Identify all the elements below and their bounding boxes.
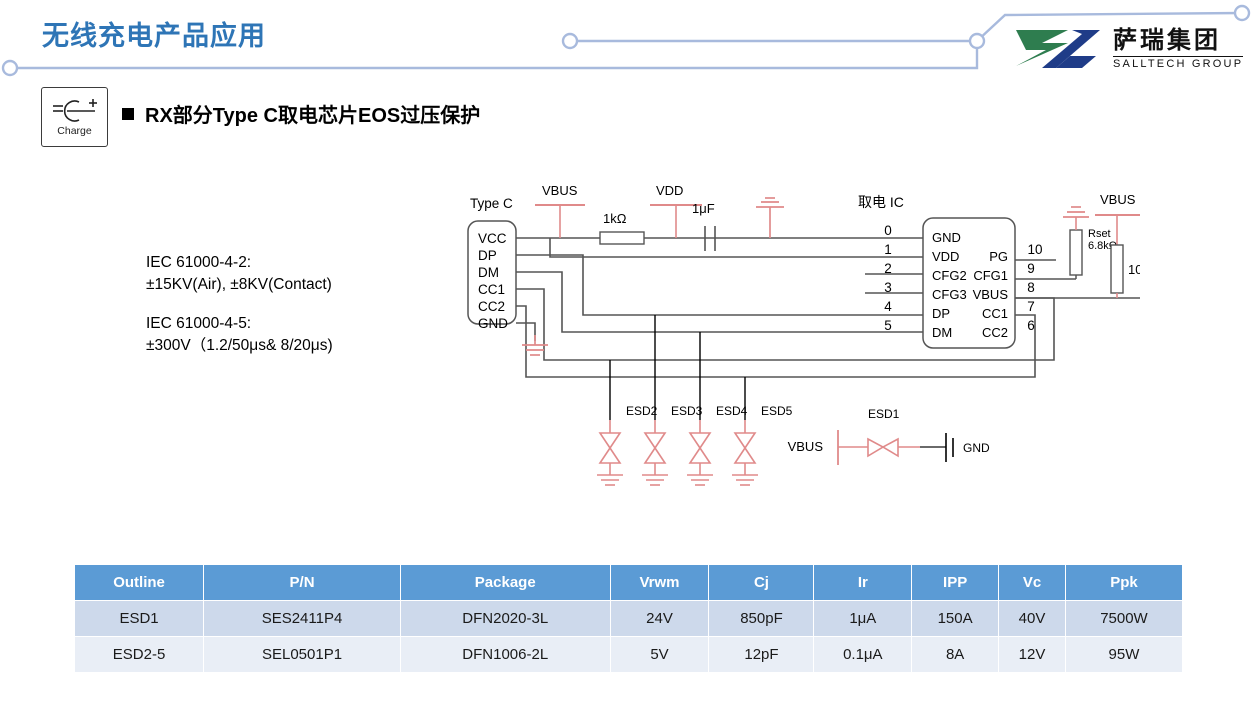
esd3-label: ESD3: [671, 404, 703, 418]
ic-pin-gnd: GND: [932, 230, 961, 245]
section-heading-label: RX部分Type C取电芯片EOS过压保护: [145, 99, 480, 128]
ic-num-10: 10: [1027, 242, 1042, 257]
section-heading: RX部分Type C取电芯片EOS过压保护: [122, 99, 480, 128]
charge-icon-box: Charge: [41, 87, 108, 147]
esd2-label: ESD2: [626, 404, 658, 418]
cell-vc: 12V: [999, 637, 1066, 673]
ic-pin-vbus: VBUS: [973, 287, 1009, 302]
table-header-row: Outline P/N Package Vrwm Cj Ir IPP Vc Pp…: [75, 565, 1183, 601]
cell-pn: SEL0501P1: [204, 637, 401, 673]
ic-pin-cc2: CC2: [982, 325, 1008, 340]
salltech-mark-icon: [1012, 26, 1104, 72]
typec-label-dm: DM: [478, 265, 499, 280]
esd1-label: ESD1: [868, 407, 900, 421]
deco-node-right: [970, 34, 984, 48]
iec-line-2: ±15KV(Air), ±8KV(Contact): [146, 274, 333, 296]
ic-num-8: 8: [1027, 280, 1035, 295]
resistor-1k-label: 1kΩ: [603, 211, 627, 226]
iec-line-3: IEC 61000-4-5:: [146, 313, 333, 335]
esd1-right-label: GND: [963, 441, 990, 455]
charge-icon-label: Charge: [57, 125, 91, 137]
th-package: Package: [400, 565, 610, 601]
page-title: 无线充电产品应用: [42, 14, 266, 53]
rail-vbus-left-label: VBUS: [542, 183, 578, 198]
capacitor-1uf-label: 1μF: [692, 201, 715, 216]
cell-ppk: 7500W: [1065, 601, 1182, 637]
typec-label-cc2: CC2: [478, 299, 505, 314]
cell-outline: ESD2-5: [75, 637, 204, 673]
spec-table: Outline P/N Package Vrwm Cj Ir IPP Vc Pp…: [74, 564, 1183, 673]
cell-ir: 1μA: [814, 601, 912, 637]
charge-icon: [49, 98, 101, 124]
ic-num-9: 9: [1027, 261, 1035, 276]
rset-name-label: Rset: [1088, 228, 1111, 240]
cell-vrwm: 24V: [610, 601, 709, 637]
resistor-10k-label: 10kΩ: [1128, 262, 1140, 277]
ic-num-5: 5: [884, 318, 892, 333]
rail-vbus-right-label: VBUS: [1100, 192, 1136, 207]
cell-vc: 40V: [999, 601, 1066, 637]
ic-num-0: 0: [884, 223, 892, 238]
cell-ipp: 8A: [912, 637, 999, 673]
deco-node-corner: [1235, 6, 1249, 20]
ic-num-4: 4: [884, 299, 892, 314]
th-pn: P/N: [204, 565, 401, 601]
rail-vdd-label: VDD: [656, 183, 683, 198]
logo-chinese-name: 萨瑞集团: [1113, 29, 1243, 53]
ic-pin-cfg1: CFG1: [973, 268, 1008, 283]
brand-logo: 萨瑞集团 SALLTECH GROUP: [1012, 26, 1243, 72]
cell-ir: 0.1μA: [814, 637, 912, 673]
th-ir: Ir: [814, 565, 912, 601]
typec-label-dp: DP: [478, 248, 497, 263]
deco-node-left: [3, 61, 17, 75]
th-cj: Cj: [709, 565, 814, 601]
ic-num-7: 7: [1027, 299, 1035, 314]
ic-pin-dm: DM: [932, 325, 952, 340]
ic-pin-cfg3: CFG3: [932, 287, 967, 302]
ic-pin-vdd: VDD: [932, 249, 959, 264]
typec-label-vcc: VCC: [478, 231, 507, 246]
table-row: ESD2-5 SEL0501P1 DFN1006-2L 5V 12pF 0.1μ…: [75, 637, 1183, 673]
ic-title: 取电 IC: [858, 194, 904, 210]
ic-pin-dp: DP: [932, 306, 950, 321]
typec-title: Type C: [470, 196, 513, 211]
iec-line-4: ±300V（1.2/50μs& 8/20μs): [146, 335, 333, 357]
cell-pn: SES2411P4: [204, 601, 401, 637]
cell-package: DFN1006-2L: [400, 637, 610, 673]
esd1-left-label: VBUS: [788, 439, 824, 454]
cell-package: DFN2020-3L: [400, 601, 610, 637]
cell-vrwm: 5V: [610, 637, 709, 673]
table-row: ESD1 SES2411P4 DFN2020-3L 24V 850pF 1μA …: [75, 601, 1183, 637]
th-ipp: IPP: [912, 565, 999, 601]
typec-label-cc1: CC1: [478, 282, 505, 297]
th-ppk: Ppk: [1065, 565, 1182, 601]
iec-line-1: IEC 61000-4-2:: [146, 252, 333, 274]
ic-num-6: 6: [1027, 318, 1035, 333]
deco-node-mid: [563, 34, 577, 48]
iec-spec-block: IEC 61000-4-2: ±15KV(Air), ±8KV(Contact)…: [146, 252, 333, 357]
th-outline: Outline: [75, 565, 204, 601]
esd5-label: ESD5: [761, 404, 793, 418]
cell-cj: 12pF: [709, 637, 814, 673]
ic-pin-pg: PG: [989, 249, 1008, 264]
ic-pin-cc1: CC1: [982, 306, 1008, 321]
typec-label-gnd: GND: [478, 316, 508, 331]
ic-pin-cfg2: CFG2: [932, 268, 967, 283]
bullet-square-icon: [122, 108, 134, 120]
th-vc: Vc: [999, 565, 1066, 601]
cell-ppk: 95W: [1065, 637, 1182, 673]
ic-num-1: 1: [884, 242, 892, 257]
esd4-label: ESD4: [716, 404, 748, 418]
cell-outline: ESD1: [75, 601, 204, 637]
circuit-schematic: Type C VCC DP DM CC1 CC2 GND Type C: [440, 175, 1140, 520]
th-vrwm: Vrwm: [610, 565, 709, 601]
logo-english-name: SALLTECH GROUP: [1113, 56, 1243, 70]
cell-cj: 850pF: [709, 601, 814, 637]
cell-ipp: 150A: [912, 601, 999, 637]
